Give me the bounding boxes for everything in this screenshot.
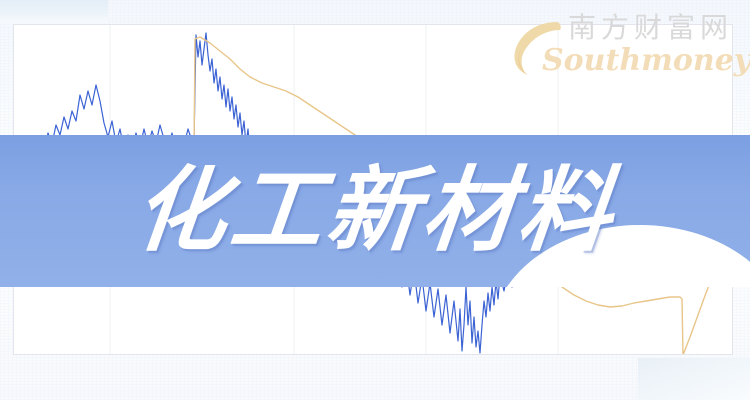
corner-accent-top-left	[0, 0, 108, 22]
corner-accent-bottom-right	[638, 358, 750, 400]
band-curve-cutout	[490, 225, 750, 287]
title-band	[0, 135, 750, 287]
stock-banner-image: 南方财富网 Southmoney.com 化工新材料	[0, 0, 750, 400]
